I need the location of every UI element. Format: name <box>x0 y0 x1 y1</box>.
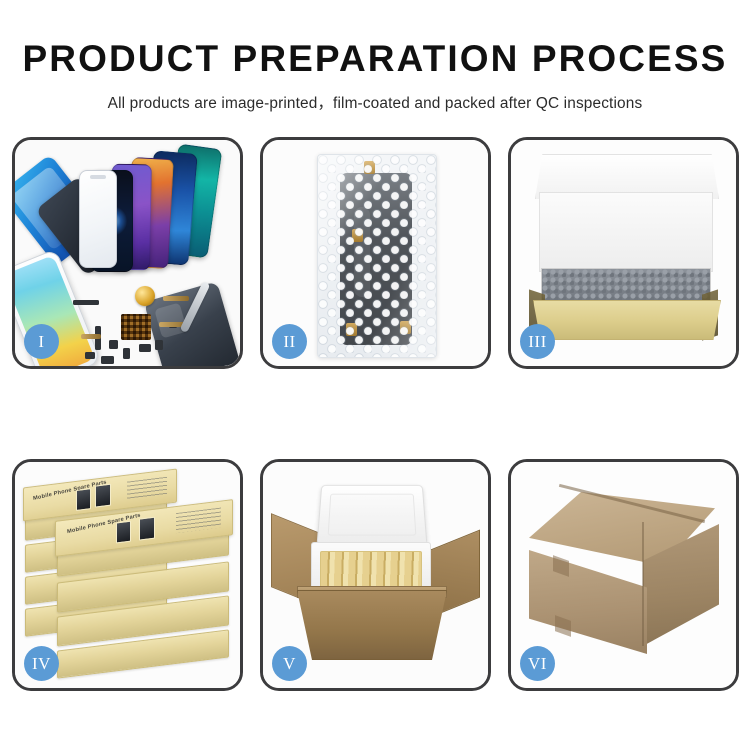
step-badge-4: IV <box>24 646 59 681</box>
speaker-module <box>135 286 155 306</box>
step-5-image: V <box>263 462 488 688</box>
step-panel-2: II <box>260 137 491 369</box>
step-badge-6: VI <box>520 646 555 681</box>
box-thumbnail-3 <box>116 521 131 544</box>
spare-parts-cluster <box>73 282 193 366</box>
box-thumbnail-4 <box>139 516 155 540</box>
step-panel-1: I <box>12 137 243 369</box>
step-badge-5: V <box>272 646 307 681</box>
box-spec-lines-back <box>127 477 167 500</box>
chip-grid <box>121 314 151 340</box>
step-2-image: II <box>263 140 488 366</box>
step-panel-5: V <box>260 459 491 691</box>
step-4-image: Mobile Phone Spare Parts Mobile Phone Sp… <box>15 462 240 688</box>
step-panel-6: VI <box>508 459 739 691</box>
step-badge-1: I <box>24 324 59 359</box>
step-badge-3: III <box>520 324 555 359</box>
kraft-box-front <box>533 300 721 340</box>
grey-foam-padding <box>541 268 711 304</box>
page-subtitle: All products are image-printed，film-coat… <box>0 79 750 113</box>
step-badge-2: II <box>272 324 307 359</box>
page-title: PRODUCT PREPARATION PROCESS <box>0 0 750 79</box>
page-header: PRODUCT PREPARATION PROCESS All products… <box>0 0 750 113</box>
tempered-glass-panel <box>79 170 117 268</box>
box-lid-face <box>539 192 713 272</box>
step-6-image: VI <box>511 462 736 688</box>
plastic-sheen <box>318 155 436 357</box>
step-panel-4: Mobile Phone Spare Parts Mobile Phone Sp… <box>12 459 243 691</box>
box-spec-lines-front <box>176 508 222 533</box>
step-panel-3: III <box>508 137 739 369</box>
carton-vertical-edge <box>642 522 644 646</box>
process-step-grid: I II III <box>12 137 739 693</box>
step-1-image: I <box>15 140 240 366</box>
carton-body <box>297 590 447 660</box>
step-3-image: III <box>511 140 736 366</box>
bubble-wrap-bag <box>317 154 437 358</box>
box-thumbnail-2 <box>95 484 111 508</box>
box-thumbnail-1 <box>76 488 91 511</box>
foam-box-lid <box>317 485 428 546</box>
